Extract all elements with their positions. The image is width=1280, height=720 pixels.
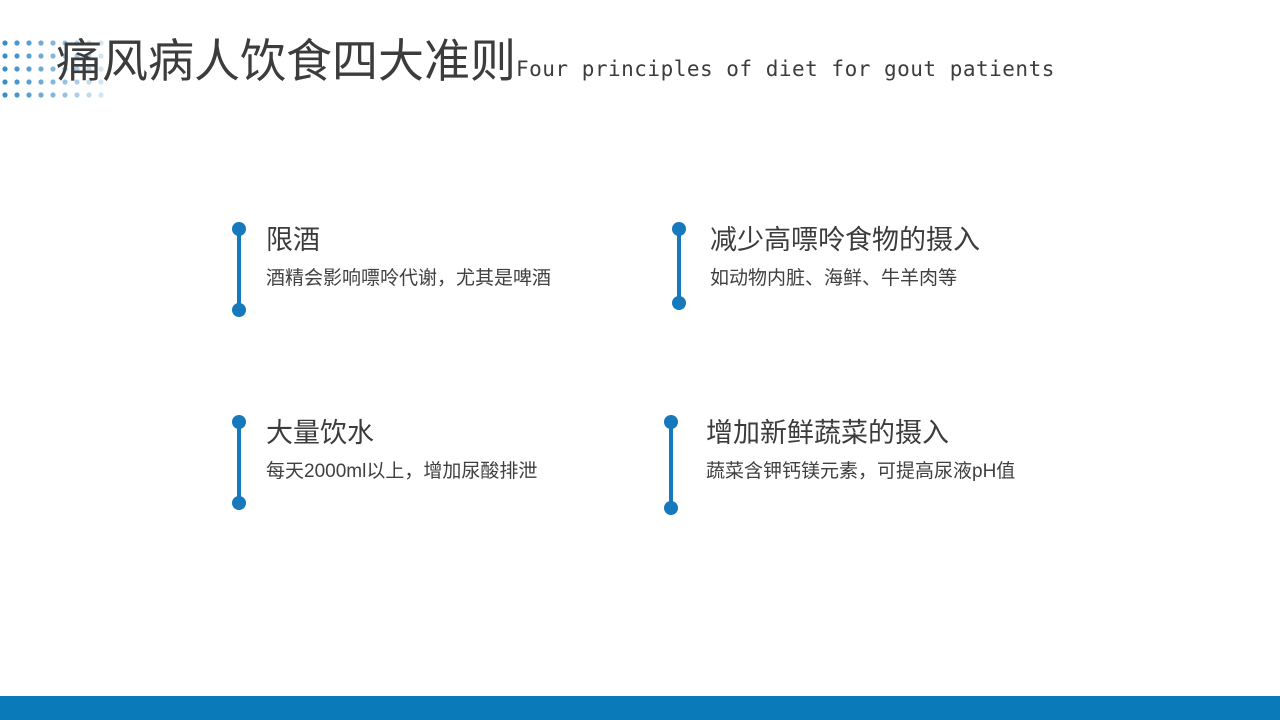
connector-bar — [677, 229, 681, 303]
principle-description: 蔬菜含钾钙镁元素，可提高尿液pH值 — [706, 455, 1015, 489]
principle-text-block: 限酒 酒精会影响嘌呤代谢，尤其是啤酒 — [266, 222, 551, 296]
principle-heading: 增加新鲜蔬菜的摄入 — [706, 415, 1015, 451]
principle-heading: 减少高嘌呤食物的摄入 — [710, 222, 980, 258]
principle-item-2: 减少高嘌呤食物的摄入 如动物内脏、海鲜、牛羊肉等 — [672, 222, 1092, 310]
connector-dot-bottom — [232, 303, 246, 317]
principle-description: 每天2000ml以上，增加尿酸排泄 — [266, 455, 537, 489]
principle-item-4: 增加新鲜蔬菜的摄入 蔬菜含钾钙镁元素，可提高尿液pH值 — [664, 415, 1084, 515]
principle-heading: 大量饮水 — [266, 415, 537, 451]
connector-bar — [237, 422, 241, 503]
connector-dot-bottom — [672, 296, 686, 310]
principle-item-1: 限酒 酒精会影响嘌呤代谢，尤其是啤酒 — [232, 222, 632, 317]
principle-text-block: 大量饮水 每天2000ml以上，增加尿酸排泄 — [266, 415, 537, 489]
content-area: 限酒 酒精会影响嘌呤代谢，尤其是啤酒 减少高嘌呤食物的摄入 如动物内脏、海鲜、牛… — [0, 0, 1280, 720]
principle-heading: 限酒 — [266, 222, 551, 258]
connector-bar — [237, 229, 241, 310]
principle-item-3: 大量饮水 每天2000ml以上，增加尿酸排泄 — [232, 415, 632, 510]
footer-accent-bar — [0, 696, 1280, 720]
dumbbell-connector-icon — [232, 222, 246, 317]
dumbbell-connector-icon — [232, 415, 246, 510]
connector-bar — [669, 422, 673, 508]
dumbbell-connector-icon — [664, 415, 678, 515]
dumbbell-connector-icon — [672, 222, 686, 310]
principle-text-block: 减少高嘌呤食物的摄入 如动物内脏、海鲜、牛羊肉等 — [710, 222, 980, 296]
principle-text-block: 增加新鲜蔬菜的摄入 蔬菜含钾钙镁元素，可提高尿液pH值 — [706, 415, 1015, 489]
connector-dot-bottom — [664, 501, 678, 515]
slide-root: 痛风病人饮食四大准则 Four principles of diet for g… — [0, 0, 1280, 720]
connector-dot-bottom — [232, 496, 246, 510]
principle-description: 如动物内脏、海鲜、牛羊肉等 — [710, 262, 980, 296]
principle-description: 酒精会影响嘌呤代谢，尤其是啤酒 — [266, 262, 551, 296]
